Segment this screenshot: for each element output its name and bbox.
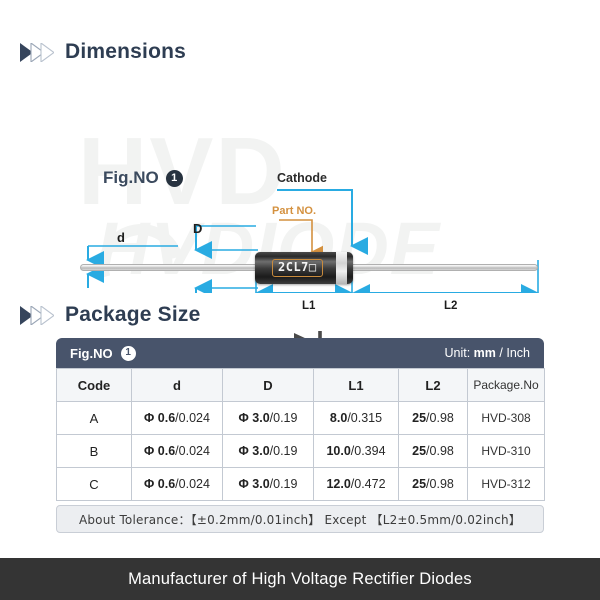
cell-package-no: HVD-310 <box>468 435 545 468</box>
cell-package-no: HVD-312 <box>468 468 545 501</box>
unit-prefix: Unit: <box>444 346 470 360</box>
cathode-lead-wire <box>348 264 538 271</box>
cell-d: Φ 0.6/0.024 <box>132 435 223 468</box>
package-size-table: Code d D L1 L2 Package.No A Φ 0.6/0.024 … <box>56 368 545 501</box>
diode-body: 2CL7□ <box>255 252 353 284</box>
table-header-unit: Unit: mm / Inch <box>444 346 530 360</box>
triple-chevron-icon <box>20 43 54 62</box>
table-row: C Φ 0.6/0.024 Φ 3.0/0.19 12.0/0.472 25/0… <box>57 468 545 501</box>
table-header-figure-text: Fig.NO <box>70 346 113 361</box>
section-title-package-size: Package Size <box>65 303 201 327</box>
figure-number-text: Fig.NO <box>103 168 159 188</box>
column-header-L1: L1 <box>314 369 399 402</box>
cell-L1: 12.0/0.472 <box>314 468 399 501</box>
unit-inch: Inch <box>506 346 530 360</box>
cell-D: Φ 3.0/0.19 <box>223 468 314 501</box>
anode-lead-wire <box>80 264 258 271</box>
callout-body-length: L1 <box>302 300 315 312</box>
unit-mm: mm <box>474 346 496 360</box>
callout-body-diameter: D <box>193 221 202 236</box>
table-header-row: Code d D L1 L2 Package.No <box>57 369 545 402</box>
diode-dimension-diagram: Fig.NO 1 Cathode Part NO. d D L1 L2 2CL7… <box>0 78 600 293</box>
callout-cathode: Cathode <box>277 171 327 185</box>
triple-chevron-icon <box>20 306 54 325</box>
column-header-L2: L2 <box>399 369 468 402</box>
footer-bar: Manufacturer of High Voltage Rectifier D… <box>0 558 600 600</box>
cathode-band <box>336 252 347 284</box>
footer-text: Manufacturer of High Voltage Rectifier D… <box>128 570 472 589</box>
table-header-figure-badge: 1 <box>121 346 136 361</box>
column-header-D: D <box>223 369 314 402</box>
cell-d: Φ 0.6/0.024 <box>132 402 223 435</box>
cell-D: Φ 3.0/0.19 <box>223 435 314 468</box>
column-header-d: d <box>132 369 223 402</box>
part-marking-label: 2CL7□ <box>272 259 323 277</box>
cell-L2: 25/0.98 <box>399 435 468 468</box>
figure-number-badge: 1 <box>166 170 183 187</box>
table-header-figure: Fig.NO 1 <box>70 346 136 361</box>
cell-code: A <box>57 402 132 435</box>
cell-package-no: HVD-308 <box>468 402 545 435</box>
tolerance-note: About Tolerance：【±0.2mm/0.01inch】 Except… <box>56 505 544 533</box>
cell-d: Φ 0.6/0.024 <box>132 468 223 501</box>
cell-L2: 25/0.98 <box>399 468 468 501</box>
cell-L1: 8.0/0.315 <box>314 402 399 435</box>
callout-lead-length: L2 <box>444 300 457 312</box>
package-size-table-wrapper: Fig.NO 1 Unit: mm / Inch Code d D L1 <box>56 338 544 533</box>
unit-separator: / <box>499 346 502 360</box>
callout-part-no: Part NO. <box>272 205 316 217</box>
section-heading-package-size: Package Size <box>20 303 201 327</box>
datasheet-page: HVD HVDIODE ® Dimensions <box>0 0 600 600</box>
section-heading-dimensions: Dimensions <box>20 40 186 64</box>
cell-L1: 10.0/0.394 <box>314 435 399 468</box>
table-row: A Φ 0.6/0.024 Φ 3.0/0.19 8.0/0.315 25/0.… <box>57 402 545 435</box>
cell-code: C <box>57 468 132 501</box>
column-header-code: Code <box>57 369 132 402</box>
cell-code: B <box>57 435 132 468</box>
callout-lead-diameter: d <box>117 230 125 245</box>
cell-L2: 25/0.98 <box>399 402 468 435</box>
table-row: B Φ 0.6/0.024 Φ 3.0/0.19 10.0/0.394 25/0… <box>57 435 545 468</box>
cell-D: Φ 3.0/0.19 <box>223 402 314 435</box>
column-header-package-no: Package.No <box>468 369 545 402</box>
section-title-dimensions: Dimensions <box>65 40 186 64</box>
table-header-bar: Fig.NO 1 Unit: mm / Inch <box>56 338 544 368</box>
figure-number-label: Fig.NO 1 <box>103 168 183 188</box>
